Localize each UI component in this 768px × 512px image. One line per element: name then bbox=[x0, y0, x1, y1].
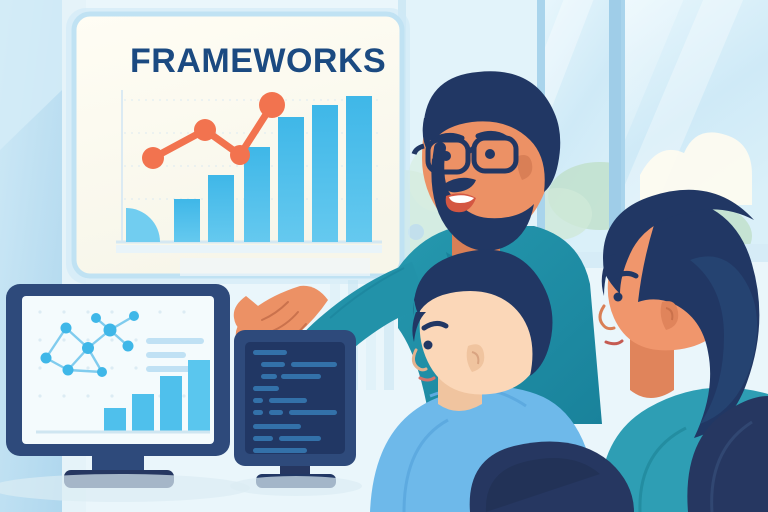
grain-overlay bbox=[0, 0, 768, 512]
scene-svg: FRAMEWORKS bbox=[0, 0, 768, 512]
illustration-scene: FRAMEWORKS bbox=[0, 0, 768, 512]
